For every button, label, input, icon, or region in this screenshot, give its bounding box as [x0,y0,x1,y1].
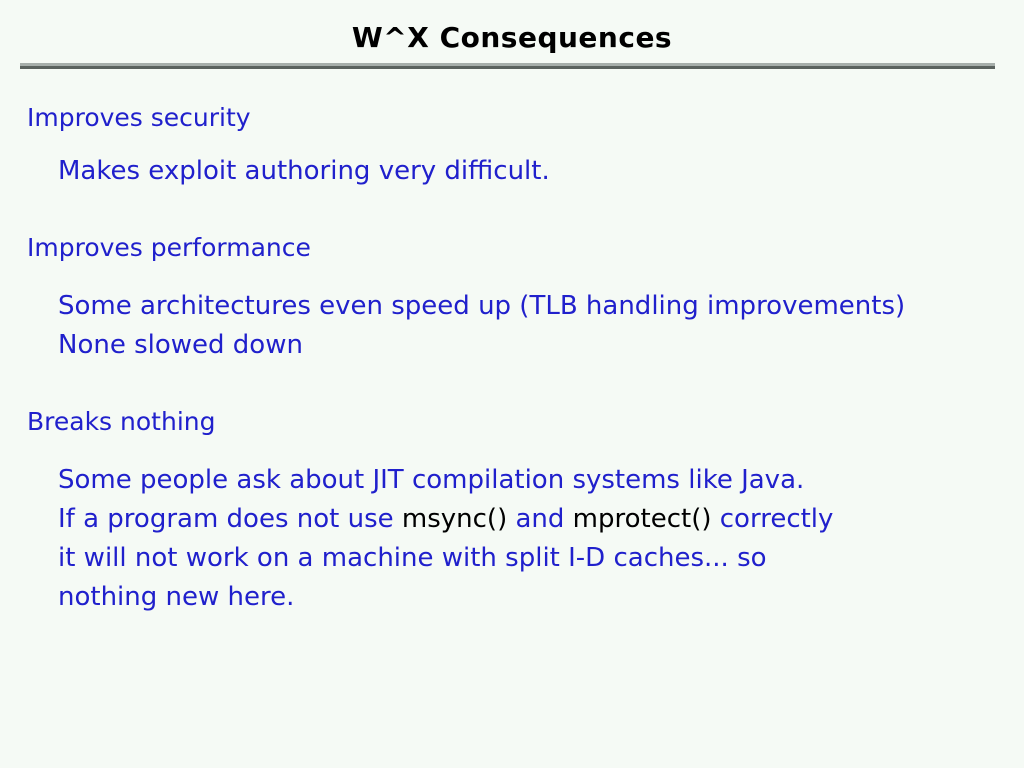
content-section-breaks-nothing: Breaks nothing Some people ask about JIT… [0,407,1024,617]
spacer [0,132,1024,152]
section-heading-improves-security: Improves security [0,103,1024,132]
section-heading-breaks-nothing: Breaks nothing [0,407,1024,436]
text-segment-if-a-program: If a program does not use [58,504,402,534]
spacer [0,262,1024,287]
content-section-security: Improves security Makes exploit authorin… [0,103,1024,191]
code-mprotect: mprotect() [573,504,712,534]
spacer [0,436,1024,461]
bullet-nothing-new-here: nothing new here. [0,578,1024,617]
code-msync: msync() [402,504,507,534]
title-separator-rule [20,63,995,69]
spacer [0,191,1024,233]
bullet-some-architectures-speed-up: Some architectures even speed up (TLB ha… [0,287,1024,326]
bullet-msync-mprotect-line: If a program does not use msync() and mp… [0,500,1024,539]
presentation-slide: W^X Consequences Improves security Makes… [0,0,1024,768]
rule-shadow [20,66,995,69]
slide-body: Improves security Makes exploit authorin… [0,103,1024,617]
bullet-jit-compilation-question: Some people ask about JIT compilation sy… [0,461,1024,500]
slide-title: W^X Consequences [0,22,1024,54]
section-heading-improves-performance: Improves performance [0,233,1024,262]
text-segment-and: and [507,504,572,534]
text-segment-correctly: correctly [712,504,834,534]
bullet-none-slowed-down: None slowed down [0,326,1024,365]
bullet-makes-exploit-authoring-difficult: Makes exploit authoring very difficult. [0,152,1024,191]
content-section-performance: Improves performance Some architectures … [0,233,1024,365]
spacer [0,365,1024,407]
bullet-split-id-caches: it will not work on a machine with split… [0,539,1024,578]
